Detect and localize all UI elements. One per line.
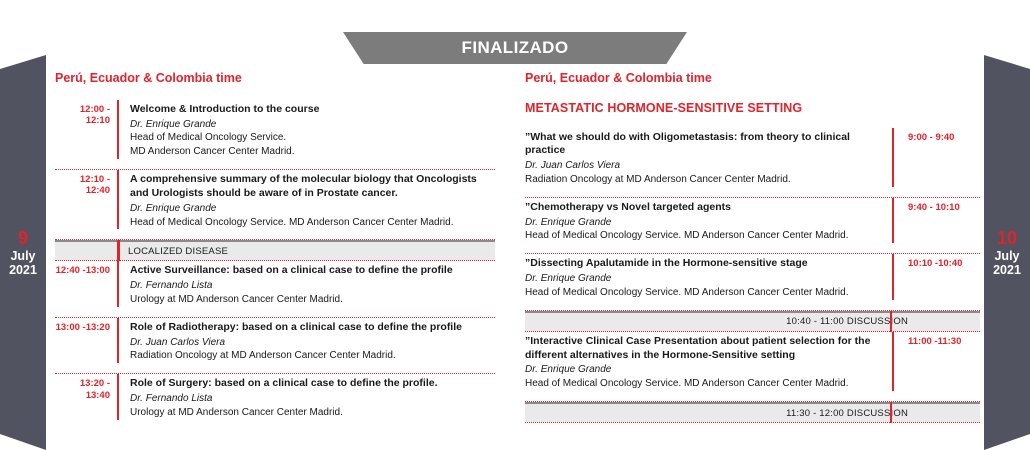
agenda-column-day-9: Perú, Ecuador & Colombia time 12:00 - 12… xyxy=(55,72,495,430)
band-accent-tick xyxy=(117,240,120,261)
date-tab-left-day: 9 xyxy=(9,228,37,248)
session-time: 13:00 -13:20 xyxy=(55,318,117,333)
left-timezone-header: Perú, Ecuador & Colombia time xyxy=(55,72,495,86)
right-section-header: METASTATIC HORMONE-SENSITIVE SETTING xyxy=(525,102,980,116)
session-details: A comprehensive summary of the molecular… xyxy=(117,170,495,229)
session-time: 10:10 -10:40 xyxy=(892,254,980,299)
session-time: 9:40 - 10:10 xyxy=(892,198,980,243)
session-title: ”Chemotherapy vs Novel targeted agents xyxy=(525,201,882,215)
status-banner: FINALIZADO xyxy=(343,32,687,64)
session-details: ”What we should do with Oligometastasis:… xyxy=(525,128,892,187)
session-speaker: Dr. Enrique Grande xyxy=(525,216,882,230)
session-time: 12:00 - 12:10 xyxy=(55,100,117,127)
date-tab-left-month: July xyxy=(9,249,37,263)
date-tab-day-10[interactable]: 10 July 2021 xyxy=(984,55,1030,450)
left-session-list: 12:00 - 12:10Welcome & Introduction to t… xyxy=(55,100,495,430)
session-title: ”Interactive Clinical Case Presentation … xyxy=(525,335,882,363)
session-speaker: Dr. Enrique Grande xyxy=(525,363,882,377)
session-affiliation: Urology at MD Anderson Cancer Center Mad… xyxy=(130,293,495,307)
right-timezone-header: Perú, Ecuador & Colombia time xyxy=(525,72,980,86)
session-time: 13:20 - 13:40 xyxy=(55,374,117,401)
session-affiliation: Head of Medical Oncology Service. MD And… xyxy=(525,229,882,243)
session-details: Role of Radiotherapy: based on a clinica… xyxy=(117,318,495,363)
session-time: 11:00 -11:30 xyxy=(892,332,980,391)
discussion-band: 10:40 - 11:00 DISCUSSION xyxy=(525,311,980,332)
session-time: 12:40 -13:00 xyxy=(55,261,117,276)
session-speaker: Dr. Fernando Lista xyxy=(130,392,495,406)
date-tab-left-inner: 9 July 2021 xyxy=(9,228,37,276)
discussion-band-label: 10:40 - 11:00 DISCUSSION xyxy=(786,316,980,327)
session-affiliation: Radiation Oncology at MD Anderson Cancer… xyxy=(525,173,882,187)
session-affiliation: Urology at MD Anderson Cancer Center Mad… xyxy=(130,406,495,420)
section-band: LOCALIZED DISEASE xyxy=(55,240,495,261)
session-row[interactable]: 12:10 - 12:40A comprehensive summary of … xyxy=(55,170,495,240)
session-title: ”What we should do with Oligometastasis:… xyxy=(525,131,882,159)
session-title: Active Surveillance: based on a clinical… xyxy=(130,264,495,278)
session-time: 9:00 - 9:40 xyxy=(892,128,980,187)
band-accent-tick xyxy=(890,311,893,332)
session-speaker: Dr. Enrique Grande xyxy=(130,202,495,216)
session-details: Active Surveillance: based on a clinical… xyxy=(117,261,495,306)
session-title: Role of Surgery: based on a clinical cas… xyxy=(130,377,495,391)
session-row[interactable]: 13:20 - 13:40Role of Surgery: based on a… xyxy=(55,374,495,429)
status-badge: FINALIZADO xyxy=(462,39,569,57)
session-affiliation: Head of Medical Oncology Service. MD And… xyxy=(525,377,882,391)
session-title: Welcome & Introduction to the course xyxy=(130,103,495,117)
session-speaker: Dr. Juan Carlos Viera xyxy=(130,336,495,350)
session-speaker: Dr. Enrique Grande xyxy=(525,272,882,286)
session-affiliation: Head of Medical Oncology Service. MD And… xyxy=(130,216,495,230)
date-tab-right-year: 2021 xyxy=(993,263,1021,277)
session-details: Welcome & Introduction to the courseDr. … xyxy=(117,100,495,159)
session-speaker: Dr. Fernando Lista xyxy=(130,279,495,293)
session-row[interactable]: ”Dissecting Apalutamide in the Hormone-s… xyxy=(525,254,980,310)
session-row[interactable]: 12:00 - 12:10Welcome & Introduction to t… xyxy=(55,100,495,170)
session-title: ”Dissecting Apalutamide in the Hormone-s… xyxy=(525,257,882,271)
session-affiliation: Head of Medical Oncology Service. MD And… xyxy=(525,286,882,300)
session-speaker: Dr. Juan Carlos Viera xyxy=(525,159,882,173)
date-tab-right-inner: 10 July 2021 xyxy=(993,228,1021,276)
session-details: ”Chemotherapy vs Novel targeted agentsDr… xyxy=(525,198,892,243)
session-details: Role of Surgery: based on a clinical cas… xyxy=(117,374,495,419)
session-row[interactable]: 13:00 -13:20Role of Radiotherapy: based … xyxy=(55,318,495,374)
date-tab-day-9[interactable]: 9 July 2021 xyxy=(0,55,46,450)
session-row[interactable]: ”Interactive Clinical Case Presentation … xyxy=(525,332,980,402)
session-details: ”Interactive Clinical Case Presentation … xyxy=(525,332,892,391)
date-tab-right-month: July xyxy=(993,249,1021,263)
date-tab-right-day: 10 xyxy=(993,228,1021,248)
session-row[interactable]: 12:40 -13:00Active Surveillance: based o… xyxy=(55,261,495,317)
discussion-band-label: 11:30 - 12:00 DISCUSSION xyxy=(786,408,980,419)
session-details: ”Dissecting Apalutamide in the Hormone-s… xyxy=(525,254,892,299)
band-accent-tick xyxy=(890,402,893,423)
session-time: 12:10 - 12:40 xyxy=(55,170,117,197)
right-session-list: ”What we should do with Oligometastasis:… xyxy=(525,128,980,424)
discussion-band: 11:30 - 12:00 DISCUSSION xyxy=(525,402,980,423)
session-speaker: Dr. Enrique Grande xyxy=(130,118,495,132)
session-affiliation: Radiation Oncology at MD Anderson Cancer… xyxy=(130,349,495,363)
session-title: Role of Radiotherapy: based on a clinica… xyxy=(130,321,495,335)
session-affiliation: MD Anderson Cancer Center Madrid. xyxy=(130,145,495,159)
section-band-label: LOCALIZED DISEASE xyxy=(117,246,228,257)
agenda-page: FINALIZADO 9 July 2021 10 July 2021 Perú… xyxy=(0,0,1030,450)
session-row[interactable]: ”Chemotherapy vs Novel targeted agentsDr… xyxy=(525,198,980,254)
session-title: A comprehensive summary of the molecular… xyxy=(130,173,495,201)
session-affiliation: Head of Medical Oncology Service. xyxy=(130,131,495,145)
agenda-column-day-10: Perú, Ecuador & Colombia time METASTATIC… xyxy=(525,72,980,423)
date-tab-left-year: 2021 xyxy=(9,263,37,277)
session-row[interactable]: ”What we should do with Oligometastasis:… xyxy=(525,128,980,198)
